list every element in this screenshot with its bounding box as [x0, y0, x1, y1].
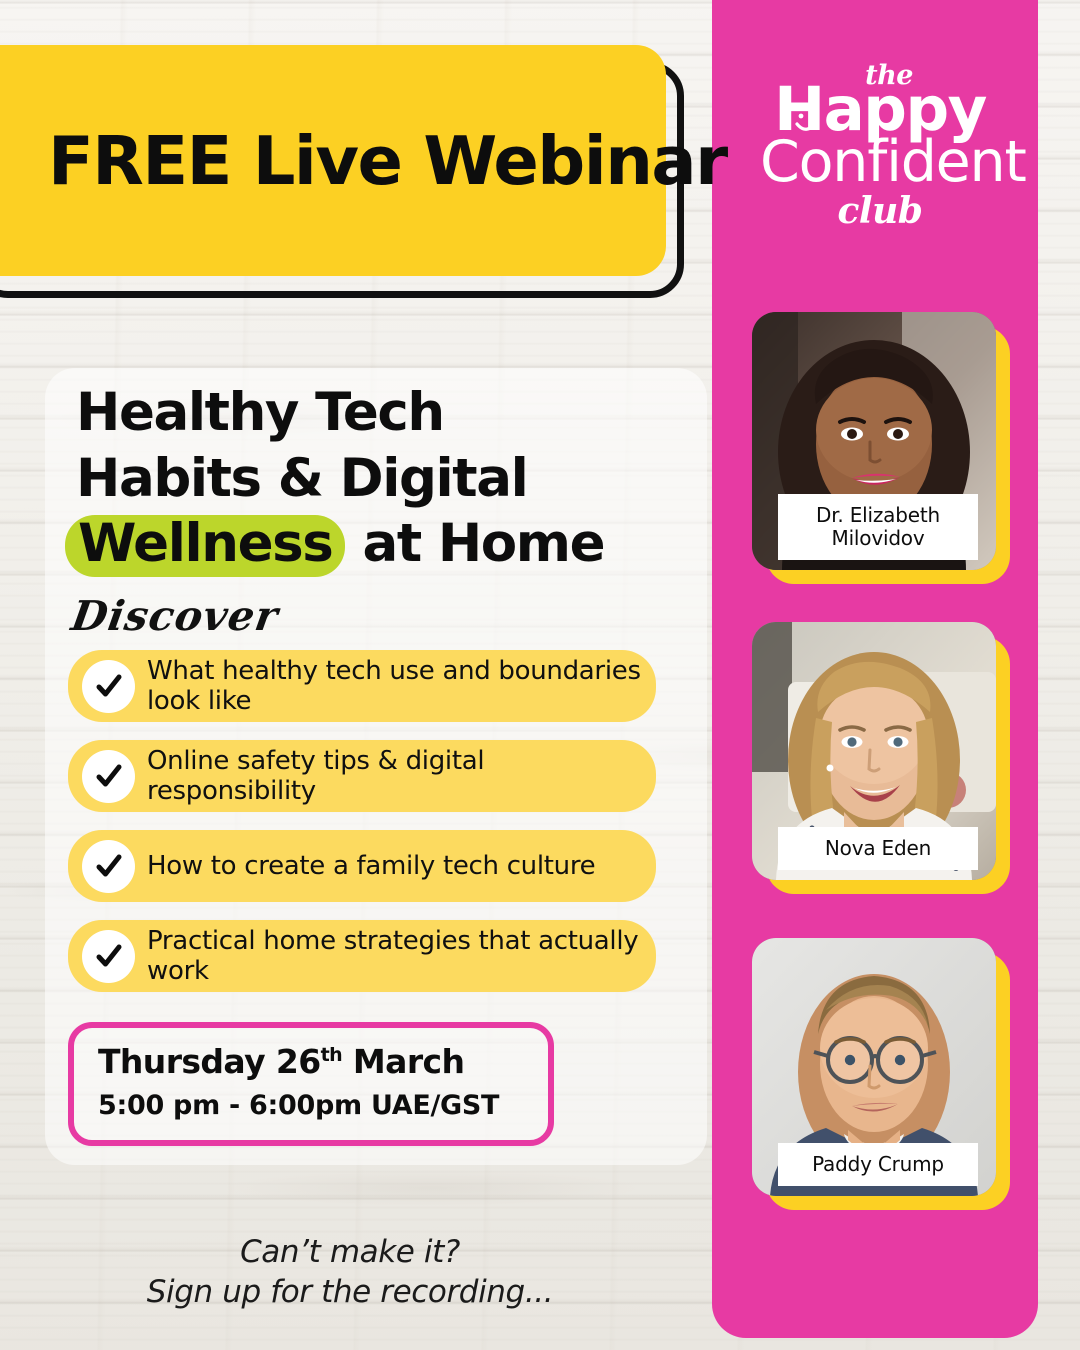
footer-line-1: Can’t make it? [0, 1232, 700, 1272]
discover-label: Discover [68, 592, 282, 640]
list-item-label: How to create a family tech culture [147, 851, 605, 881]
list-item: How to create a family tech culture [68, 830, 656, 902]
speaker-card: Nova Eden [752, 622, 1002, 884]
speaker-name: Nova Eden [778, 827, 978, 870]
list-item-label: What healthy tech use and boundaries loo… [147, 656, 656, 716]
check-icon [82, 750, 135, 803]
check-icon [82, 840, 135, 893]
footer-line-2: Sign up for the recording... [0, 1272, 700, 1312]
check-icon [82, 930, 135, 983]
free-live-webinar-banner: FREE Live Webinar [0, 45, 666, 276]
list-item: Practical home strategies that actually … [68, 920, 656, 992]
speaker-card: Dr. Elizabeth Milovidov [752, 312, 1002, 574]
benefits-list: What healthy tech use and boundaries loo… [68, 650, 656, 1010]
list-item: Online safety tips & digital responsibil… [68, 740, 656, 812]
page-title: Healthy Tech Habits & Digital Wellness a… [76, 380, 686, 577]
smiley-face-icon [794, 88, 824, 118]
speaker-name: Dr. Elizabeth Milovidov [778, 494, 978, 560]
event-date-month: March [342, 1042, 464, 1081]
list-item-label: Online safety tips & digital responsibil… [147, 746, 656, 806]
event-date-day: Thursday 26 [98, 1042, 321, 1081]
headline-line-1: Healthy Tech [76, 380, 686, 446]
recording-signup-note: Can’t make it? Sign up for the recording… [0, 1232, 700, 1313]
headline-line-3: Wellness at Home [76, 511, 686, 577]
check-icon [82, 660, 135, 713]
brand-logo: the Happy Confident club [760, 62, 1000, 229]
event-date-ordinal: th [321, 1044, 342, 1066]
headline-line-3-rest: at Home [362, 513, 604, 574]
speaker-name: Paddy Crump [778, 1143, 978, 1186]
logo-happy-text: Happy [760, 79, 1000, 140]
date-time-box: Thursday 26th March 5:00 pm - 6:00pm UAE… [68, 1022, 554, 1146]
event-time: 5:00 pm - 6:00pm UAE/GST [98, 1090, 548, 1121]
headline-highlight-word: Wellness [65, 515, 345, 577]
event-date: Thursday 26th March [98, 1042, 548, 1081]
speaker-card: Paddy Crump [752, 938, 1002, 1200]
list-item: What healthy tech use and boundaries loo… [68, 650, 656, 722]
list-item-label: Practical home strategies that actually … [147, 926, 656, 986]
headline-line-2: Habits & Digital [76, 446, 686, 512]
logo-club-text: club [760, 193, 1000, 229]
banner-title: FREE Live Webinar [48, 122, 727, 200]
